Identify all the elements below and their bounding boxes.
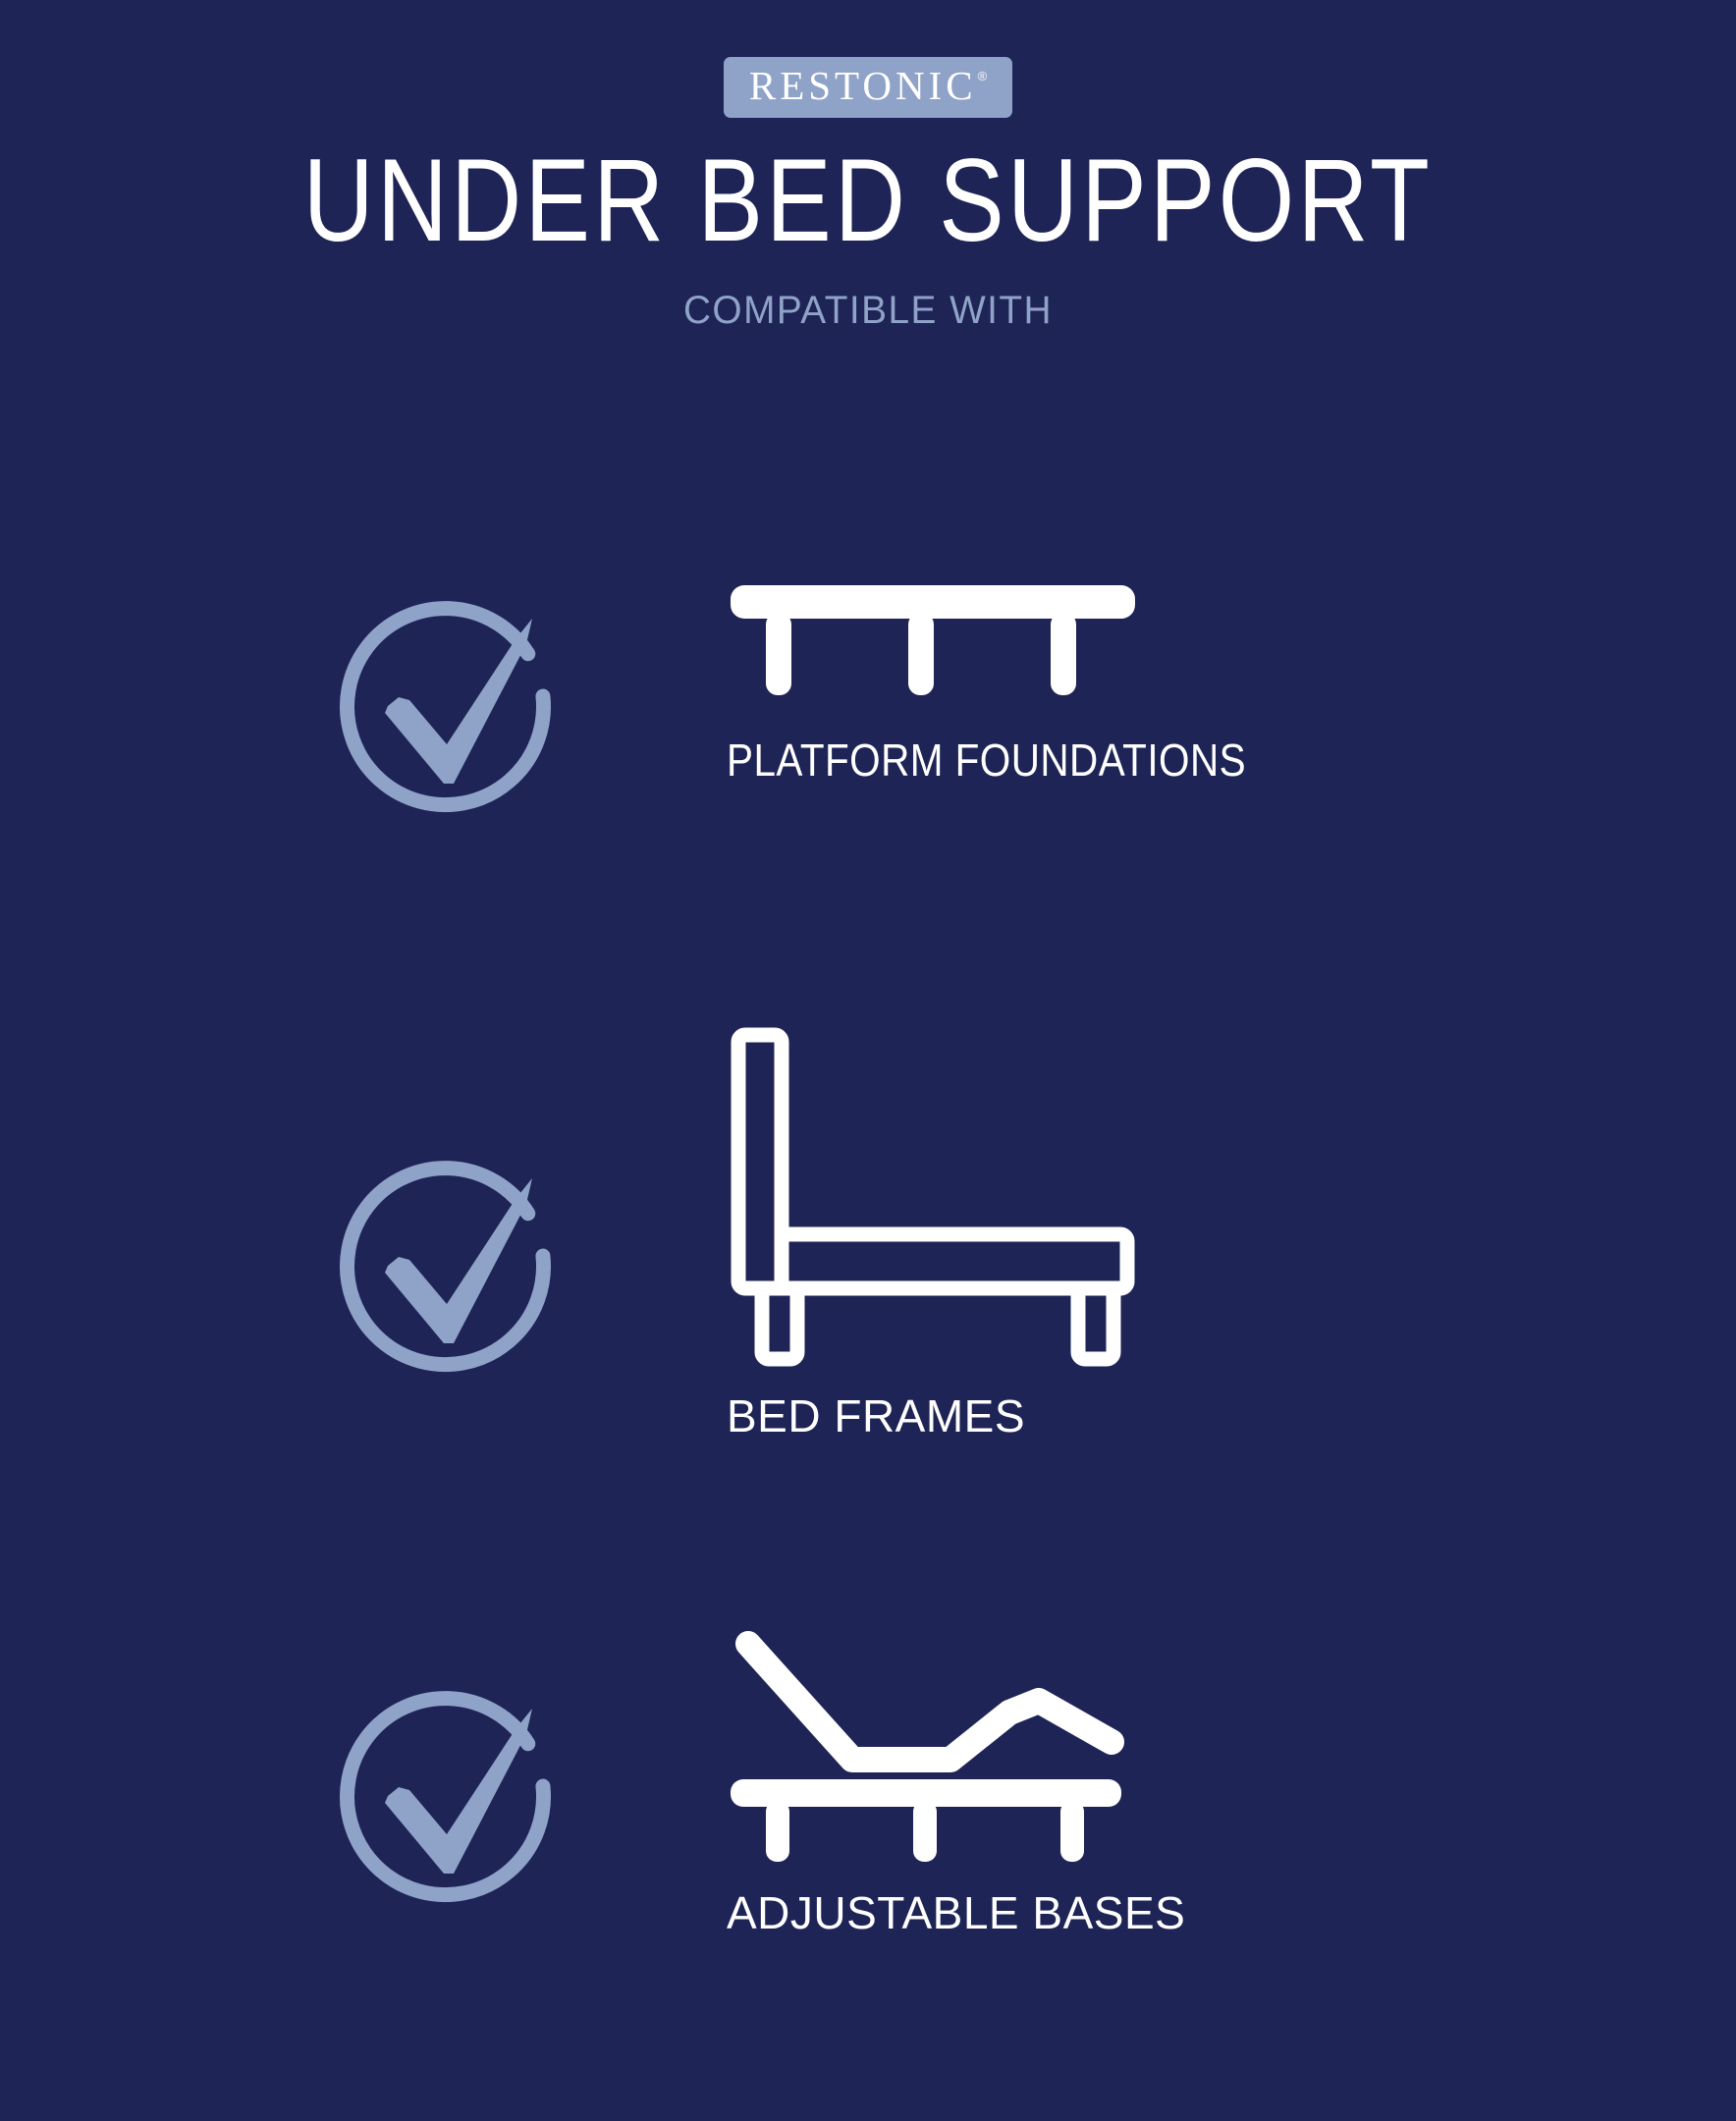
compatibility-list: PLATFORM FOUNDATIONS <box>0 570 1736 2042</box>
restonic-logo: RESTONIC ® <box>724 57 1012 118</box>
row-content: ADJUSTABLE BASES <box>727 1604 1185 1935</box>
check-circle-icon <box>330 587 575 833</box>
list-item-label: BED FRAMES <box>727 1393 1139 1439</box>
platform-foundation-icon <box>727 570 1317 702</box>
registered-trademark-icon: ® <box>978 70 988 82</box>
check-circle-icon <box>330 1147 575 1392</box>
row-content: PLATFORM FOUNDATIONS <box>727 570 1317 783</box>
list-item: BED FRAMES <box>0 1041 1736 1512</box>
page-title: UNDER BED SUPPORT <box>147 141 1588 259</box>
row-content: BED FRAMES <box>727 1023 1139 1439</box>
adjustable-base-icon <box>727 1604 1185 1875</box>
bed-frame-icon <box>727 1023 1139 1372</box>
restonic-logo-text: RESTONIC <box>749 66 977 106</box>
check-circle-icon <box>330 1677 575 1923</box>
list-item: PLATFORM FOUNDATIONS <box>0 570 1736 982</box>
brand-logo-wrap: RESTONIC ® <box>0 0 1736 118</box>
page-subtitle: COMPATIBLE WITH <box>27 291 1710 330</box>
list-item-label: PLATFORM FOUNDATIONS <box>727 737 1246 783</box>
list-item: ADJUSTABLE BASES <box>0 1571 1736 1984</box>
header: RESTONIC ® UNDER BED SUPPORT COMPATIBLE … <box>0 0 1736 330</box>
list-item-label: ADJUSTABLE BASES <box>727 1890 1185 1935</box>
